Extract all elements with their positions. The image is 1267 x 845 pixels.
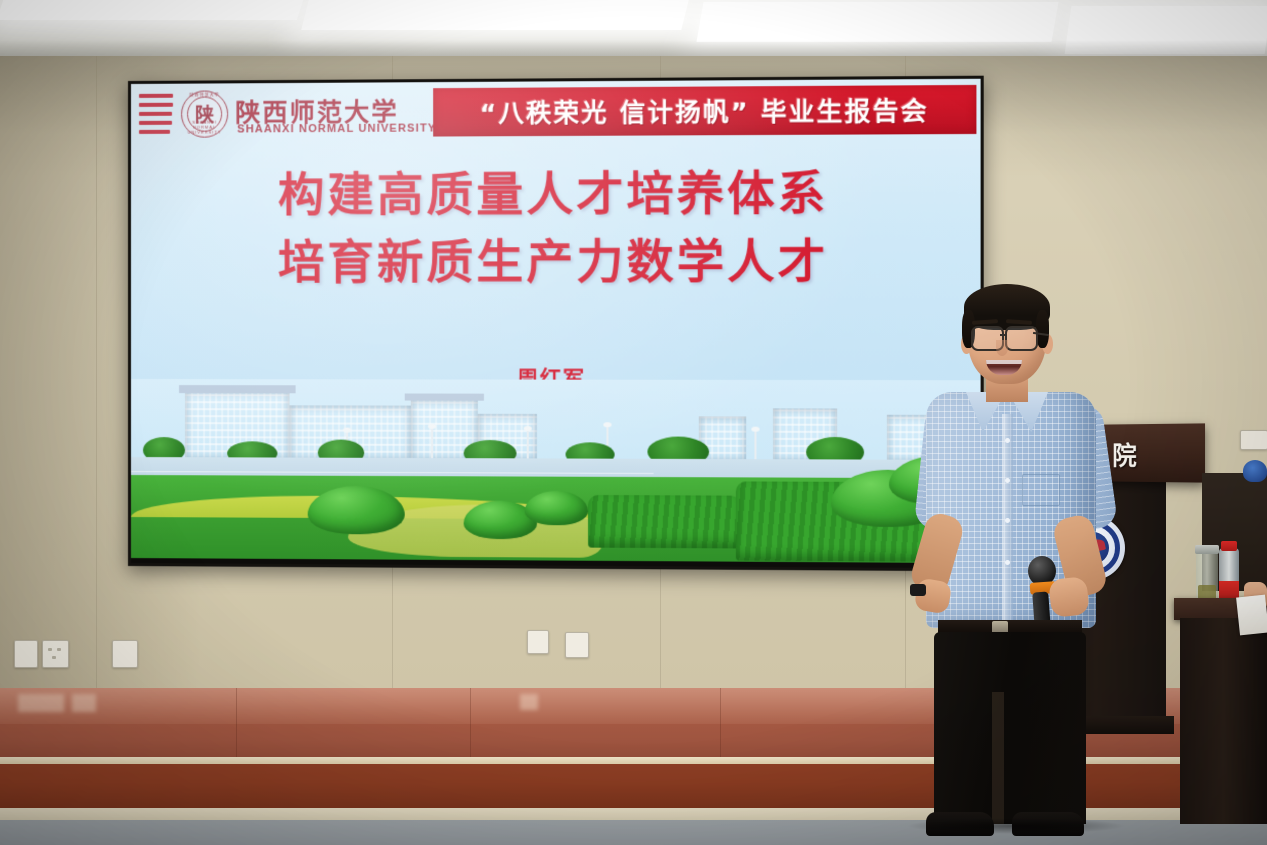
street-lamp: [431, 428, 433, 462]
nose: [996, 340, 1008, 356]
photo-hedge: [588, 495, 742, 548]
water-bottle-cap[interactable]: [1221, 541, 1237, 551]
led-display-screen[interactable]: 陕西师范大学 陕 SHAANXI NORMAL UNIVERSITY 陕西师范大…: [128, 76, 984, 572]
event-banner: “八秩荣光 信计扬帆” 毕业生报告会: [433, 85, 976, 137]
socket-contacts: [43, 641, 68, 667]
speaker-person: [920, 288, 1110, 845]
ceiling-light-panel: [0, 0, 303, 20]
shirt-button: [1005, 438, 1010, 443]
wall-panel-seam: [96, 56, 97, 688]
stage-reflection: [72, 694, 96, 712]
campus-photo: [131, 379, 981, 568]
university-name-en: SHAANXI NORMAL UNIVERSITY: [237, 122, 436, 135]
university-seal-logo: 陕西师范大学 陕 SHAANXI NORMAL UNIVERSITY: [181, 90, 228, 137]
slide-header: 陕西师范大学 陕 SHAANXI NORMAL UNIVERSITY 陕西师范大…: [131, 79, 981, 146]
campus-building-roof: [179, 385, 296, 393]
shirt-button: [1005, 478, 1010, 483]
slide-title-block: 构建高质量人才培养体系 培育新质生产力数学人才: [131, 158, 981, 295]
side-table-body: [1180, 618, 1267, 824]
event-banner-text: “八秩荣光 信计扬帆” 毕业生报告会: [480, 91, 929, 130]
hand-right: [1048, 576, 1090, 618]
ceiling-light-panel: [696, 2, 1058, 42]
eyeglasses-lens-right: [1005, 326, 1038, 351]
water-bottle-label: [1219, 581, 1239, 599]
stage-seam: [470, 688, 471, 762]
stage-reflection: [520, 694, 538, 710]
eyeglasses-bridge: [1000, 334, 1006, 336]
speaker-shadow: [906, 818, 1126, 834]
podium-front-character: 院: [1112, 436, 1136, 473]
leg-separation: [992, 692, 1004, 824]
ceiling-light-panel: [301, 0, 688, 30]
wall-plate-blank[interactable]: [1240, 430, 1267, 450]
wall-plate-blank[interactable]: [112, 640, 138, 668]
photo-shrub: [525, 491, 588, 526]
decorative-red-bars: [139, 94, 175, 139]
wall-socket-plate[interactable]: [565, 632, 589, 658]
wall-socket-plate[interactable]: [527, 630, 549, 654]
shirt-button: [1005, 518, 1010, 523]
wall-socket-plate[interactable]: [42, 640, 69, 668]
presentation-clicker[interactable]: [910, 584, 926, 596]
shirt-pocket: [1022, 474, 1060, 506]
shirt-button: [1005, 560, 1010, 565]
presentation-slide: 陕西师范大学 陕 SHAANXI NORMAL UNIVERSITY 陕西师范大…: [131, 79, 981, 568]
podium-lectern-top: 院: [1101, 423, 1205, 482]
stage-reflection: [18, 694, 64, 712]
tea-jar-lid[interactable]: [1195, 545, 1219, 554]
wall-switch-plate[interactable]: [14, 640, 38, 668]
seal-ring-bottom-text: SHAANXI NORMAL UNIVERSITY: [182, 119, 227, 134]
slide-title-line-2: 培育新质生产力数学人才: [131, 227, 981, 296]
paper-document[interactable]: [1236, 595, 1267, 636]
lecture-hall-photo: 陕西师范大学 陕 SHAANXI NORMAL UNIVERSITY 陕西师范大…: [0, 0, 1267, 845]
trousers: [934, 632, 1086, 824]
campus-building-roof: [405, 393, 484, 400]
stage-seam: [720, 688, 721, 762]
stage-seam: [236, 688, 237, 762]
blue-object: [1243, 460, 1267, 482]
slide-title-line-1: 构建高质量人才培养体系: [131, 158, 981, 228]
